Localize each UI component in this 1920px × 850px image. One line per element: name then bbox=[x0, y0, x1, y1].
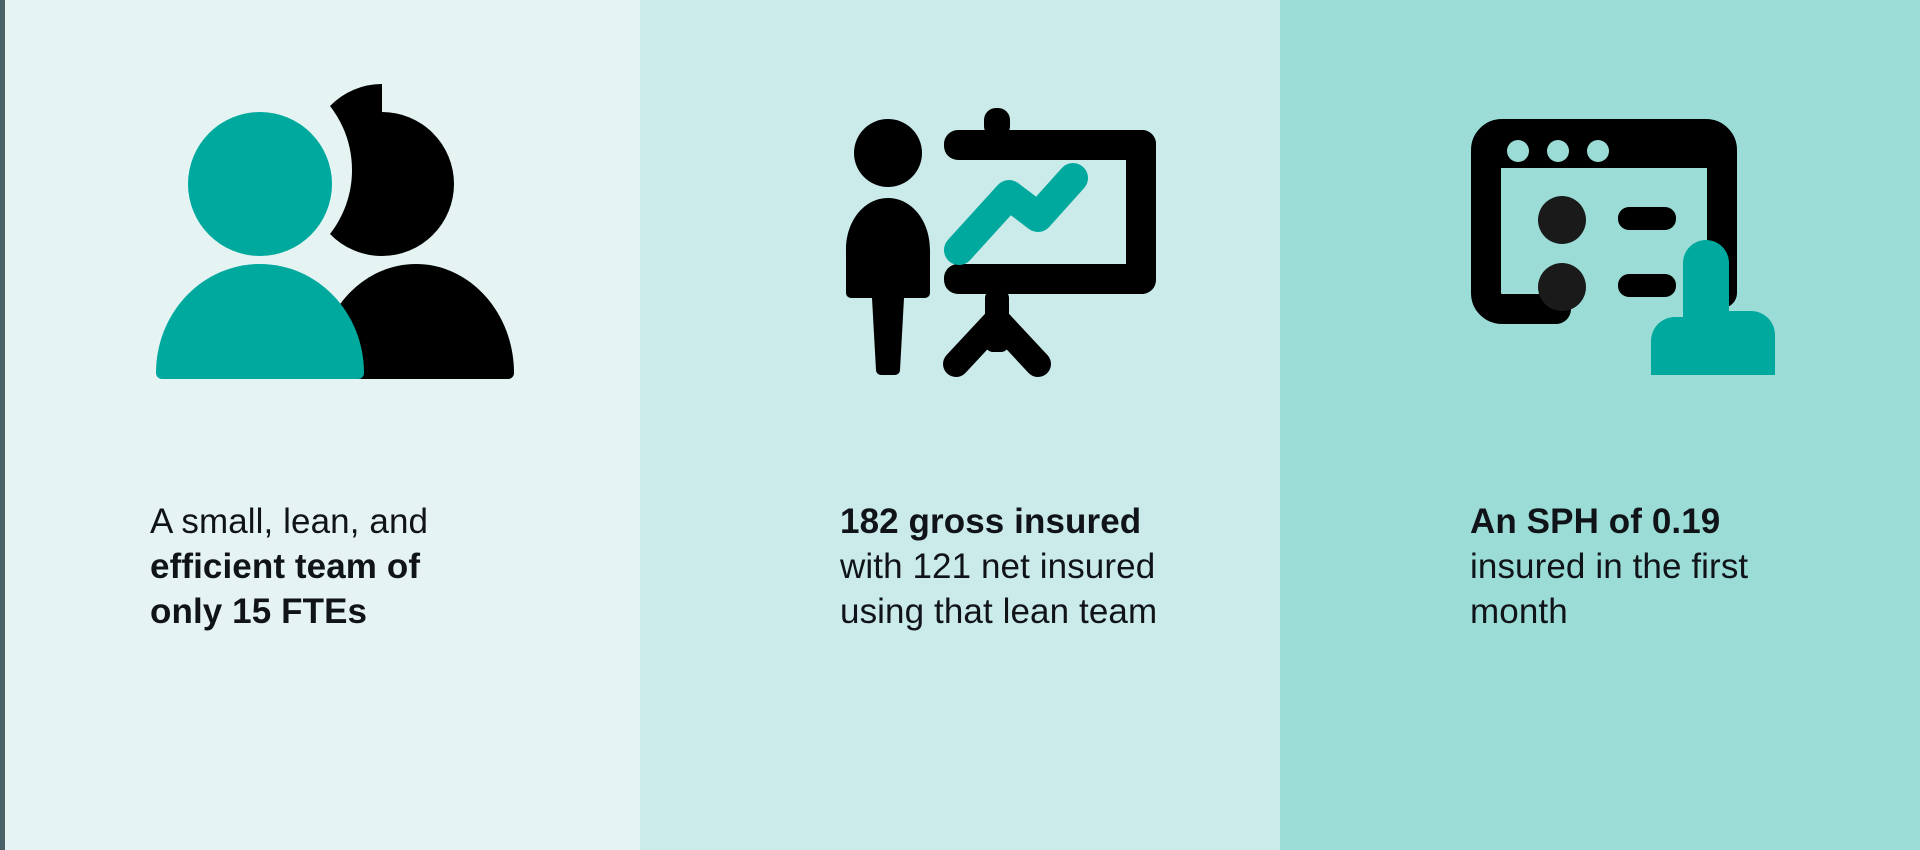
panel-insured-line-2: with 121 net insured bbox=[840, 545, 1270, 590]
panel-sph-line-3: month bbox=[1470, 590, 1890, 635]
stats-panel-banner: A small, lean, and efficient team of onl… bbox=[0, 0, 1920, 850]
presentation-chart-icon bbox=[840, 108, 1170, 378]
panel-insured-text: 182 gross insured with 121 net insured u… bbox=[840, 500, 1270, 634]
panel-sph-line-1: An SPH of 0.19 bbox=[1470, 500, 1890, 545]
two-users-icon bbox=[150, 108, 490, 378]
panel-team: A small, lean, and efficient team of onl… bbox=[5, 0, 640, 850]
panel-sph-line-2: insured in the first bbox=[1470, 545, 1890, 590]
panel-team-line-3: only 15 FTEs bbox=[150, 590, 570, 635]
browser-click-icon bbox=[1470, 108, 1800, 378]
panel-team-line-2: efficient team of bbox=[150, 545, 570, 590]
panel-insured-line-3: using that lean team bbox=[840, 590, 1270, 635]
panel-team-line-1: A small, lean, and bbox=[150, 500, 570, 545]
panel-sph: An SPH of 0.19 insured in the first mont… bbox=[1280, 0, 1920, 850]
panel-insured-line-1: 182 gross insured bbox=[840, 500, 1270, 545]
panel-insured: 182 gross insured with 121 net insured u… bbox=[640, 0, 1280, 850]
panel-sph-text: An SPH of 0.19 insured in the first mont… bbox=[1470, 500, 1890, 634]
panel-team-text: A small, lean, and efficient team of onl… bbox=[150, 500, 570, 634]
